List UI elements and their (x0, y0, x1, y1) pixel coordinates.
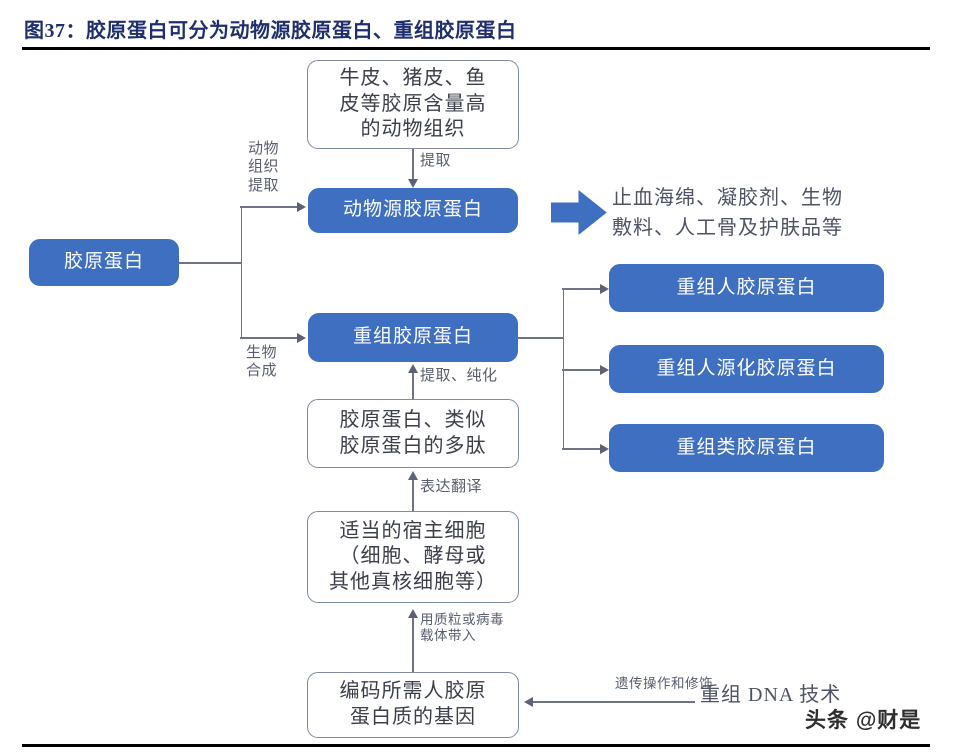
page-title: 图37：胶原蛋白可分为动物源胶原蛋白、重组胶原蛋白 (24, 14, 517, 43)
node-animal-tissue-source[interactable]: 牛皮、猪皮、鱼 皮等胶原含量高 的动物组织 (307, 60, 519, 149)
node-animal-source-collagen-label: 动物源胶原蛋白 (309, 198, 517, 222)
connector-tissue-to-animal-collagen (412, 149, 414, 181)
annotation-recombinant-dna-technology: 重组 DNA 技术 (700, 678, 841, 707)
watermark: 头条 @财是 (805, 704, 921, 734)
arrowhead-root-to-recombinant-collagen (297, 333, 306, 343)
node-animal-source-collagen[interactable]: 动物源胶原蛋白 (308, 188, 518, 233)
node-recombinant-humanized-collagen[interactable]: 重组人源化胶原蛋白 (609, 345, 884, 393)
connector-peptide-to-recombinant (412, 372, 414, 400)
edge-label-expression-translation: 表达翻译 (420, 478, 482, 496)
edge-label-extraction-purification: 提取、纯化 (420, 367, 498, 385)
right-block-arrow-icon (551, 189, 607, 236)
edge-label-biosynthesis: 生物 合成 (246, 344, 286, 381)
node-recombinant-collagen-label: 重组胶原蛋白 (309, 325, 517, 349)
connector-gene-to-hostcell (412, 618, 414, 673)
downstream-products-text: 止血海绵、凝胶剂、生物 敷料、人工骨及护肤品等 (612, 183, 942, 243)
node-gene-label: 编码所需人胶原 蛋白质的基因 (308, 679, 518, 730)
arrowhead-tissue-to-animal-collagen (408, 179, 418, 188)
arrowhead-gene-to-hostcell (408, 609, 418, 618)
connector-root-to-recombinant-collagen (240, 337, 298, 339)
node-recombinant-human-collagen-label: 重组人胶原蛋白 (610, 276, 883, 300)
bottom-divider (22, 744, 930, 747)
connector-hostcell-to-peptide (412, 480, 414, 512)
connector-root-stem (179, 262, 242, 264)
arrowhead-to-recombinant-like (600, 444, 609, 454)
node-collagen-peptide-label: 胶原蛋白、类似 胶原蛋白的多肽 (308, 408, 518, 459)
arrowhead-to-recombinant-human (600, 284, 609, 294)
edge-label-plasmid-vector: 用质粒或病毒 载体带入 (420, 612, 504, 645)
connector-root-to-animal-collagen (240, 206, 298, 208)
connector-to-recombinant-human (562, 288, 601, 290)
edge-label-genetic-manipulation: 遗传操作和修饰 (615, 676, 713, 692)
arrowhead-hostcell-to-peptide (408, 471, 418, 480)
node-host-cell-label: 适当的宿主细胞 （细胞、酵母或 其他真核细胞等） (308, 519, 518, 596)
arrowhead-dna-to-gene (524, 697, 533, 707)
connector-root-split-spine (241, 206, 243, 338)
node-recombinant-collagen[interactable]: 重组胶原蛋白 (308, 313, 518, 362)
arrowhead-to-recombinant-humanized (600, 365, 609, 375)
connector-to-recombinant-humanized (562, 369, 601, 371)
arrowhead-root-to-animal-collagen (297, 202, 306, 212)
edge-label-animal-tissue-extraction: 动物 组织 提取 (248, 140, 288, 195)
node-collagen-root-label: 胶原蛋白 (30, 250, 178, 274)
connector-recombinant-stem (518, 337, 564, 339)
node-recombinant-collagen-like[interactable]: 重组类胶原蛋白 (609, 424, 884, 472)
title-divider (22, 47, 930, 50)
node-collagen-root[interactable]: 胶原蛋白 (29, 239, 179, 286)
node-recombinant-collagen-like-label: 重组类胶原蛋白 (610, 436, 883, 460)
node-animal-tissue-source-label: 牛皮、猪皮、鱼 皮等胶原含量高 的动物组织 (308, 66, 518, 143)
connector-dna-to-gene (533, 701, 695, 703)
figure-canvas: 图37：胶原蛋白可分为动物源胶原蛋白、重组胶原蛋白 牛皮、猪皮、鱼 皮等胶原含量… (0, 0, 953, 752)
connector-to-recombinant-like (562, 448, 601, 450)
edge-label-extraction: 提取 (420, 152, 451, 170)
node-recombinant-human-collagen[interactable]: 重组人胶原蛋白 (609, 264, 884, 312)
node-collagen-peptide[interactable]: 胶原蛋白、类似 胶原蛋白的多肽 (307, 399, 519, 468)
node-gene[interactable]: 编码所需人胶原 蛋白质的基因 (307, 672, 519, 738)
arrowhead-peptide-to-recombinant (408, 364, 418, 373)
node-host-cell[interactable]: 适当的宿主细胞 （细胞、酵母或 其他真核细胞等） (307, 511, 519, 603)
node-recombinant-humanized-collagen-label: 重组人源化胶原蛋白 (610, 357, 883, 381)
